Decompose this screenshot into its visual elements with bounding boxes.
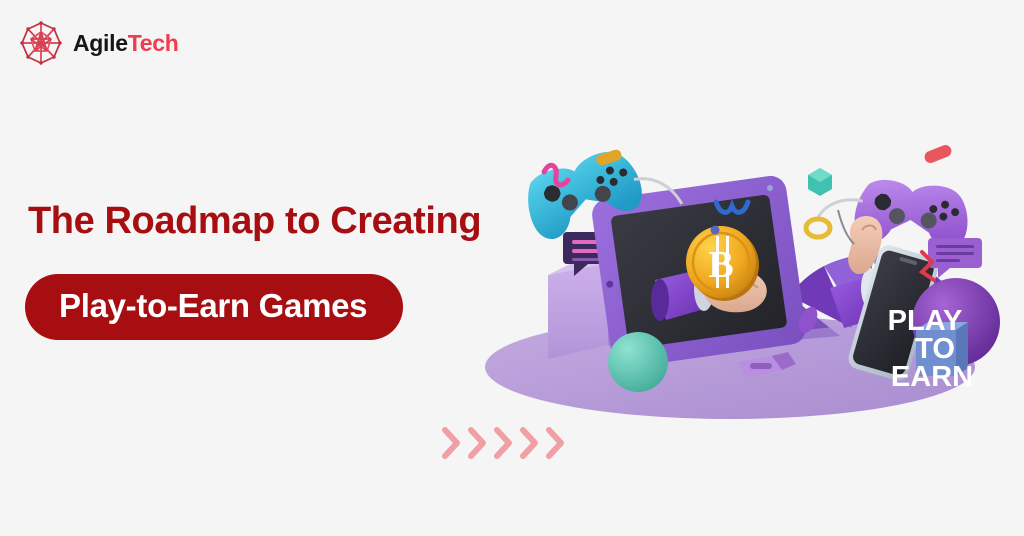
dot-blue <box>767 185 773 191</box>
capsule-red <box>923 143 953 165</box>
chevron-right-icon <box>544 425 568 461</box>
ring-gold <box>806 219 830 237</box>
chevron-arrow-group <box>440 425 568 461</box>
chevron-right-icon <box>492 425 516 461</box>
dot-blue <box>711 226 720 235</box>
chevron-right-icon <box>466 425 490 461</box>
play-to-earn-3d-scene: B <box>470 130 1024 420</box>
teal-sphere <box>608 332 668 392</box>
polyhedron-wireframe-icon <box>18 20 64 66</box>
chevron-right-icon <box>518 425 542 461</box>
banner-root: AgileTech The Roadmap to Creating Play-t… <box>0 0 1024 536</box>
brand-name-accent: Tech <box>128 30 179 56</box>
chevron-right-icon <box>440 425 464 461</box>
brand-name: AgileTech <box>73 30 179 57</box>
overlay-line-3: EARN <box>891 361 973 393</box>
bitcoin-symbol: B <box>708 244 733 286</box>
illustration-svg: B <box>470 130 1024 420</box>
status-badge: Play-to-Earn Games <box>25 274 403 340</box>
brand-name-primary: Agile <box>73 30 128 56</box>
brand-logo[interactable]: AgileTech <box>18 20 179 66</box>
hexagon-teal <box>808 168 832 196</box>
page-title: The Roadmap to Creating <box>28 200 481 243</box>
badge-label: Play-to-Earn Games <box>59 287 367 325</box>
